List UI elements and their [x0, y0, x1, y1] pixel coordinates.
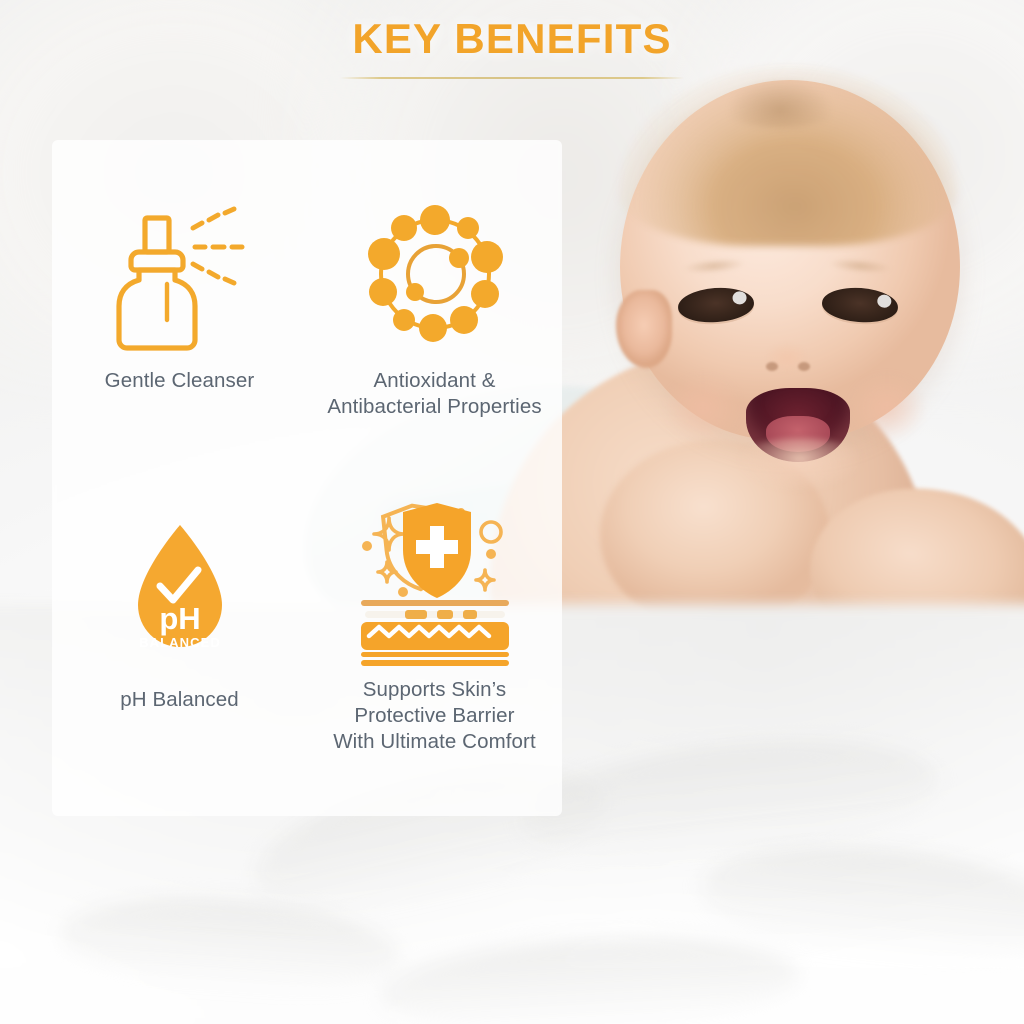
baby-ear	[616, 290, 672, 368]
baby-nostril-left	[766, 362, 778, 371]
header: KEY BENEFITS	[0, 0, 1024, 79]
benefit-item-gentle-cleanser[interactable]: Gentle Cleanser	[52, 140, 307, 478]
baby-nostril-right	[798, 362, 810, 371]
benefit-label: Antioxidant & Antibacterial Properties	[327, 368, 541, 420]
page-title: KEY BENEFITS	[0, 18, 1024, 60]
title-divider	[340, 77, 684, 79]
benefit-label: pH Balanced	[120, 687, 239, 713]
shield-skin-layers-icon	[345, 486, 525, 661]
baby-chin	[720, 438, 880, 508]
benefit-label-line: Antibacterial Properties	[327, 394, 541, 420]
baby-nose	[756, 340, 818, 380]
benefit-label-line: Supports Skin’s	[333, 677, 536, 703]
benefit-item-protective-barrier[interactable]: Supports Skin’s Protective Barrier With …	[307, 478, 562, 816]
molecule-ring-icon	[360, 192, 510, 352]
key-benefits-banner: KEY BENEFITS	[0, 0, 1024, 1024]
benefits-grid: Gentle Cleanser	[52, 140, 562, 816]
ph-badge-secondary-text: BALANCED	[139, 635, 221, 650]
benefit-label: Supports Skin’s Protective Barrier With …	[333, 677, 536, 756]
ph-droplet-icon: pH BALANCED	[105, 496, 255, 671]
benefit-label-line: Protective Barrier	[333, 703, 536, 729]
benefit-item-ph-balanced[interactable]: pH BALANCED pH Balanced	[52, 478, 307, 816]
benefit-label: Gentle Cleanser	[105, 368, 255, 394]
benefit-label-line: Antioxidant &	[327, 368, 541, 394]
spray-bottle-icon	[105, 192, 255, 352]
benefit-item-antioxidant[interactable]: Antioxidant & Antibacterial Properties	[307, 140, 562, 478]
benefits-panel: Gentle Cleanser	[52, 140, 562, 816]
ph-badge-primary-text: pH	[159, 601, 200, 636]
benefit-label-line: With Ultimate Comfort	[333, 729, 536, 755]
baby-cheek-left	[648, 360, 758, 456]
